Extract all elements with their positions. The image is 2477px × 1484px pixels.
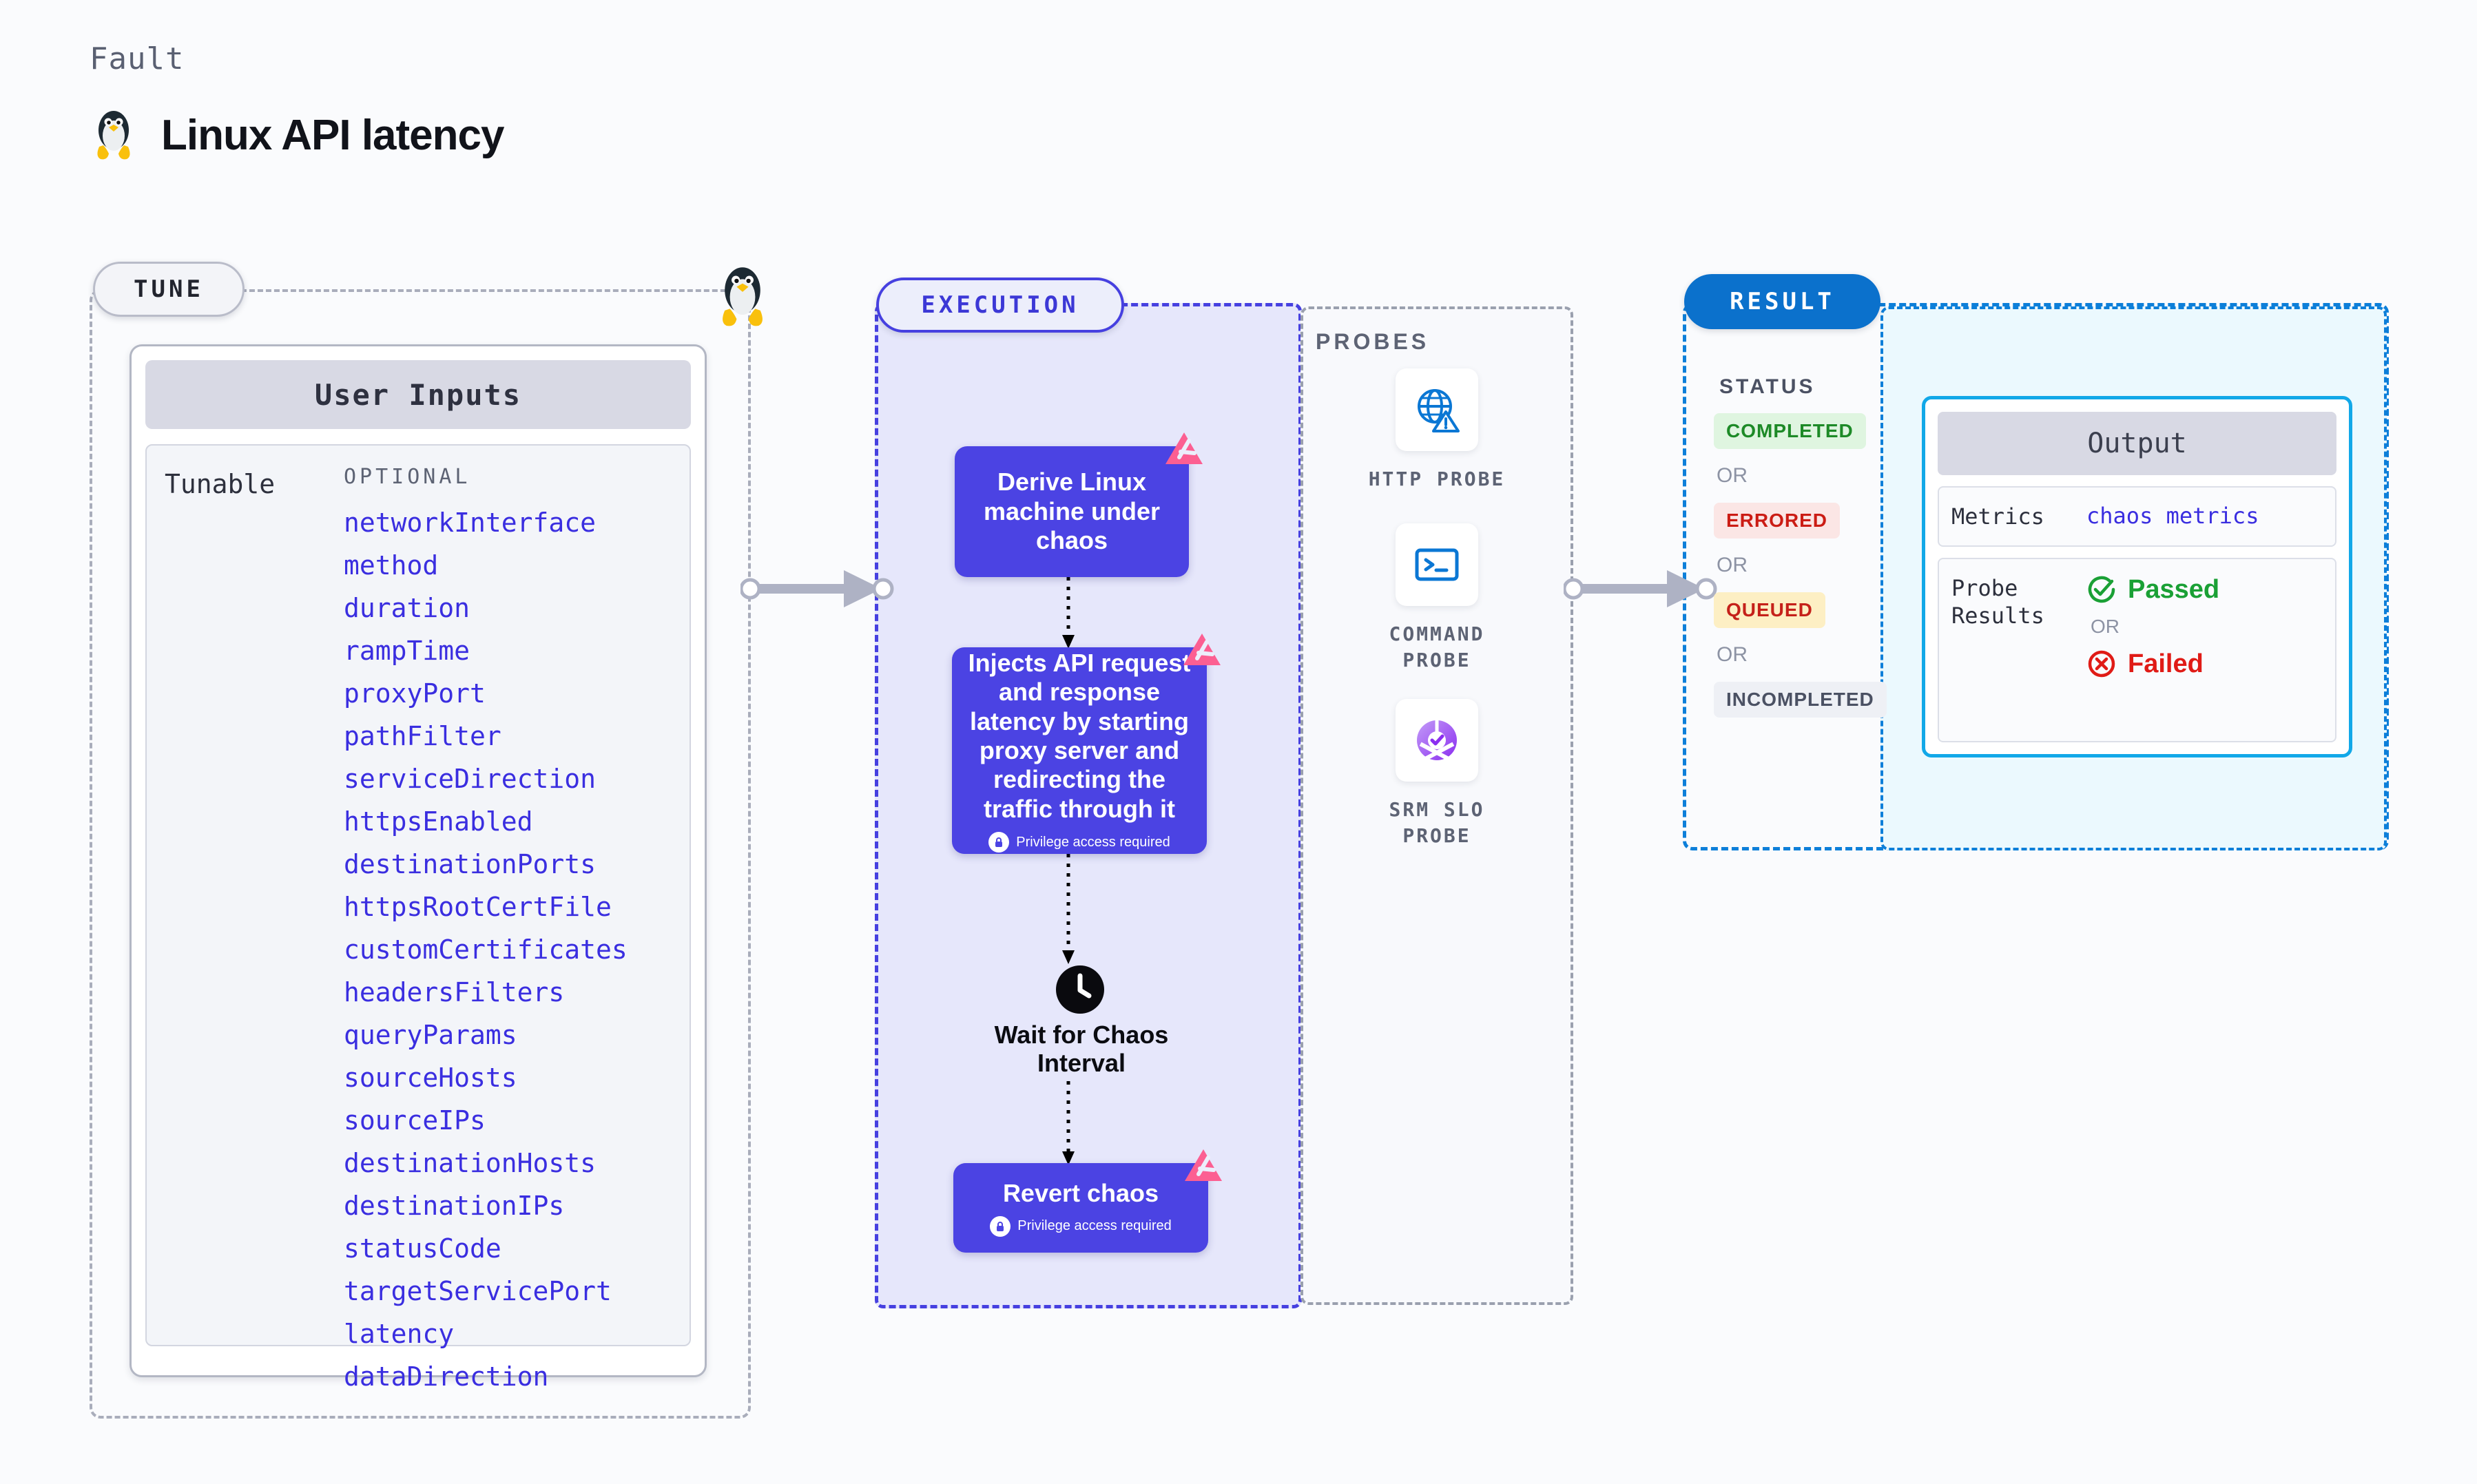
privilege-notice: Privilege access required [988,832,1170,853]
param-item[interactable]: customCertificates [344,937,676,963]
metrics-key: Metrics [1951,503,2086,530]
param-item[interactable]: serviceDirection [344,766,676,792]
title-row: Linux API latency [90,105,504,165]
privilege-notice: Privilege access required [990,1216,1171,1237]
status-badge: QUEUED [1714,592,1825,628]
verdict-stack: Passed OR Failed [2086,574,2219,679]
fault-kicker: Fault [90,41,504,76]
or-separator: OR [1717,643,1907,667]
param-item[interactable]: latency [344,1321,676,1347]
probe-label: SRM SLO PROBE [1358,797,1516,849]
verdict-passed: Passed [2086,574,2219,605]
tune-user-inputs-card: User Inputs Tunable OPTIONAL networkInte… [129,344,707,1377]
execution-panel-tag[interactable]: EXECUTION [876,278,1124,333]
clock-icon [1055,964,1106,1015]
litmus-badge-icon [1182,1147,1225,1189]
param-item[interactable]: dataDirection [344,1363,676,1390]
param-item[interactable]: statusCode [344,1235,676,1262]
or-separator: OR [1717,554,1907,577]
tune-to-execution-arrow [740,565,899,613]
probe-label: HTTP PROBE [1369,466,1506,492]
page-title: Linux API latency [161,111,504,160]
status-badge: ERRORED [1714,503,1840,539]
flow-arrow-1 [1059,577,1077,650]
tunable-section: Tunable OPTIONAL networkInterface method… [145,444,691,1346]
execution-step-text: Revert chaos [1003,1179,1159,1208]
litmus-badge-icon [1181,631,1223,673]
param-item[interactable]: destinationPorts [344,851,676,877]
param-item[interactable]: httpsRootCertFile [344,894,676,920]
param-item[interactable]: proxyPort [344,680,676,707]
param-item[interactable]: httpsEnabled [344,808,676,835]
param-item[interactable]: destinationHosts [344,1150,676,1176]
execution-step-box[interactable]: Revert chaos Privilege access required [953,1163,1208,1253]
litmus-badge-icon [1163,430,1205,472]
lock-icon [988,832,1009,853]
verdict-label: Passed [2128,575,2219,605]
execution-step-text: Injects API request and response latency… [964,649,1194,824]
flow-arrow-3 [1059,1081,1077,1167]
probe-label: COMMAND PROBE [1358,621,1516,673]
page-header: Fault Linux API latency [90,41,504,165]
status-title: STATUS [1719,375,1816,399]
probe-icon-box [1396,523,1478,606]
tune-panel-tag[interactable]: TUNE [93,262,245,317]
param-item[interactable]: queryParams [344,1022,676,1048]
param-item[interactable]: targetServicePort [344,1278,676,1304]
lock-icon [990,1216,1011,1237]
execution-step-box[interactable]: Derive Linux machine under chaos [955,446,1189,577]
param-item[interactable]: pathFilter [344,723,676,749]
probes-title: PROBES [1316,329,1429,355]
param-item[interactable]: duration [344,595,676,621]
probe-icon-box [1396,699,1478,782]
status-badge: INCOMPLETED [1714,682,1887,718]
wait-node-label: Wait for Chaos Interval [964,1021,1199,1078]
user-inputs-header: User Inputs [145,360,691,429]
param-item[interactable]: sourceHosts [344,1065,676,1091]
or-separator: OR [1717,464,1907,488]
privilege-text: Privilege access required [1017,1218,1171,1235]
probe-item[interactable]: SRM SLO PROBE [1300,699,1573,849]
slo-donut-check-icon [1411,715,1462,766]
param-item[interactable]: rampTime [344,638,676,664]
terminal-icon [1411,539,1462,590]
privilege-text: Privilege access required [1016,835,1170,851]
output-card: Output Metrics chaos metrics Probe Resul… [1922,396,2352,757]
tunable-label: Tunable [165,465,344,1345]
probe-results-key: Probe Results [1951,574,2086,629]
status-list: COMPLETED OR ERRORED OR QUEUED OR INCOMP… [1714,413,1907,718]
probe-icon-box [1396,368,1478,451]
probe-item[interactable]: HTTP PROBE [1300,368,1573,492]
verdict-failed: Failed [2086,649,2219,679]
x-circle-icon [2086,649,2117,679]
optional-params-column: OPTIONAL networkInterface method duratio… [344,465,676,1345]
param-item[interactable]: headersFilters [344,979,676,1005]
check-circle-icon [2086,574,2117,605]
metrics-value[interactable]: chaos metrics [2086,503,2259,530]
linux-tux-icon [713,258,772,334]
status-badge: COMPLETED [1714,413,1866,449]
probe-item[interactable]: COMMAND PROBE [1300,523,1573,673]
param-item[interactable]: method [344,552,676,578]
probe-results-row: Probe Results Passed OR Failed [1938,558,2336,742]
optional-label: OPTIONAL [344,465,676,489]
execution-step-box[interactable]: Injects API request and response latency… [952,647,1207,854]
param-item[interactable]: networkInterface [344,510,676,536]
or-separator: OR [2091,616,2219,638]
param-item[interactable]: destinationIPs [344,1193,676,1219]
execution-to-result-arrow [1564,565,1722,613]
output-header: Output [1938,412,2336,475]
linux-tux-icon [90,105,138,165]
metrics-row: Metrics chaos metrics [1938,486,2336,547]
result-panel-tag[interactable]: RESULT [1684,274,1880,329]
param-item[interactable]: sourceIPs [344,1107,676,1133]
verdict-label: Failed [2128,649,2204,679]
flow-arrow-2 [1059,854,1077,965]
execution-step-text: Derive Linux machine under chaos [967,468,1177,555]
globe-warning-icon [1411,384,1462,435]
